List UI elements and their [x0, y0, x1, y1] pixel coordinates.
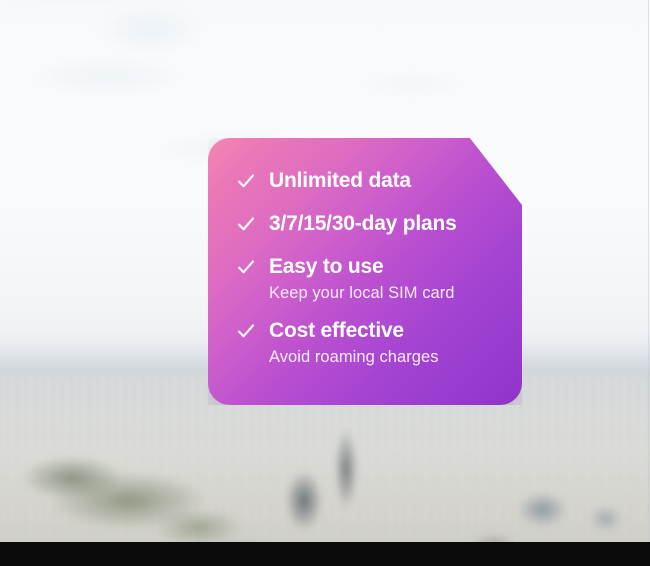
check-icon [237, 257, 255, 277]
check-icon [237, 321, 255, 341]
screen: Unlimited data 3/7/15/30-day plans [0, 0, 650, 566]
benefit-item-unlimited-data: Unlimited data [237, 168, 522, 193]
benefit-text: Unlimited data [269, 168, 411, 193]
benefit-text: Easy to use Keep your local SIM card [269, 254, 455, 304]
benefit-title: 3/7/15/30-day plans [269, 211, 457, 236]
benefit-text: 3/7/15/30-day plans [269, 211, 457, 236]
right-edge-seam [648, 0, 649, 566]
benefit-item-day-plans: 3/7/15/30-day plans [237, 211, 522, 236]
esim-benefits-card: Unlimited data 3/7/15/30-day plans [208, 138, 522, 405]
benefit-text: Cost effective Avoid roaming charges [269, 318, 439, 368]
benefit-subtitle: Avoid roaming charges [269, 346, 439, 368]
benefits-list: Unlimited data 3/7/15/30-day plans [208, 138, 522, 405]
benefit-item-cost-effective: Cost effective Avoid roaming charges [237, 318, 522, 368]
bottom-black-bar [0, 542, 650, 566]
benefit-title: Unlimited data [269, 168, 411, 193]
benefit-title: Easy to use [269, 254, 455, 279]
benefit-item-easy-to-use: Easy to use Keep your local SIM card [237, 254, 522, 304]
check-icon [237, 171, 255, 191]
check-icon [237, 214, 255, 234]
benefit-title: Cost effective [269, 318, 439, 343]
benefit-subtitle: Keep your local SIM card [269, 282, 455, 304]
